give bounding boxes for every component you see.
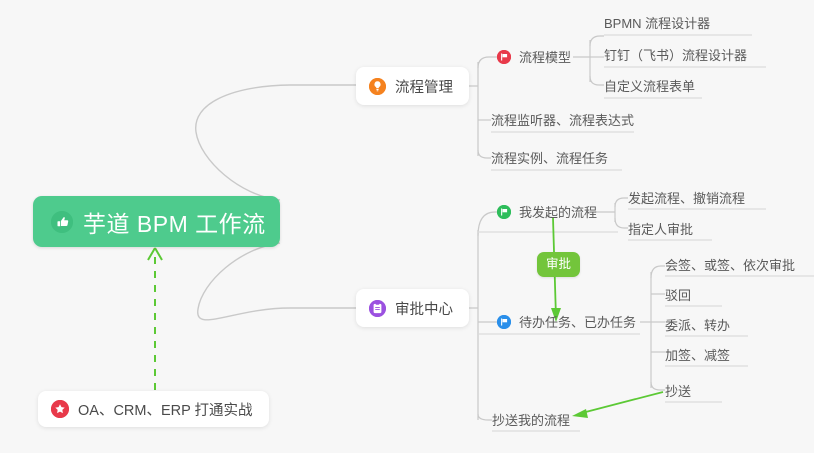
leaf-add-remove-sign[interactable]: 加签、减签 [665,343,730,367]
flag-blue-icon [497,315,511,329]
leaf-label-assigned-approver: 指定人审批 [628,223,693,236]
leaf-label-reject: 驳回 [665,289,691,302]
leaf-label-delegate-transfer: 委派、转办 [665,319,730,332]
leaf-bpmn-designer[interactable]: BPMN 流程设计器 [604,11,710,35]
leaf-label-cc-to-me: 抄送我的流程 [492,414,570,427]
clipboard-icon [369,300,386,317]
annotation-badge-approval: 审批 [537,252,580,277]
leaf-delegate-transfer[interactable]: 委派、转办 [665,313,730,337]
leaf-label-process-listener: 流程监听器、流程表达式 [491,114,634,127]
note-card-integration[interactable]: OA、CRM、ERP 打通实战 [38,391,269,427]
leaf-process-model[interactable]: 流程模型 [497,45,571,69]
root-label: 芋道 BPM 工作流 [83,205,266,239]
leaf-cc-to-me[interactable]: 抄送我的流程 [492,408,570,432]
leaf-label-cc: 抄送 [665,385,691,398]
note-card-label: OA、CRM、ERP 打通实战 [78,399,253,420]
branch-node-approval-center[interactable]: 审批中心 [356,289,469,327]
leaf-my-initiated-processes[interactable]: 我发起的流程 [497,200,597,224]
leaf-process-instance[interactable]: 流程实例、流程任务 [491,146,608,170]
lightbulb-icon [369,78,386,95]
leaf-label-custom-form: 自定义流程表单 [604,80,695,93]
leaf-countersign[interactable]: 会签、或签、依次审批 [665,253,795,277]
leaf-cc[interactable]: 抄送 [665,379,691,403]
leaf-todo-done-tasks[interactable]: 待办任务、已办任务 [497,310,636,334]
leaf-label-countersign: 会签、或签、依次审批 [665,259,795,272]
leaf-label-bpmn-designer: BPMN 流程设计器 [604,17,710,30]
leaf-reject[interactable]: 驳回 [665,283,691,307]
flag-red-icon [497,50,511,64]
leaf-label-my-initiated-processes: 我发起的流程 [519,206,597,219]
leaf-label-add-remove-sign: 加签、减签 [665,349,730,362]
star-icon [51,400,69,418]
branch-label-process-management: 流程管理 [395,76,453,97]
branch-node-process-management[interactable]: 流程管理 [356,67,469,105]
leaf-label-todo-done-tasks: 待办任务、已办任务 [519,316,636,329]
leaf-custom-form[interactable]: 自定义流程表单 [604,74,695,98]
leaf-dingtalk-designer[interactable]: 钉钉（飞书）流程设计器 [604,43,747,67]
leaf-start-cancel-process[interactable]: 发起流程、撤销流程 [628,186,745,210]
mindmap-canvas: 芋道 BPM 工作流 OA、CRM、ERP 打通实战 流程管理 [0,0,814,453]
leaf-label-process-instance: 流程实例、流程任务 [491,152,608,165]
leaf-label-start-cancel-process: 发起流程、撤销流程 [628,192,745,205]
root-node[interactable]: 芋道 BPM 工作流 [33,196,280,247]
leaf-assigned-approver[interactable]: 指定人审批 [628,217,693,241]
leaf-label-dingtalk-designer: 钉钉（飞书）流程设计器 [604,49,747,62]
flag-green-icon [497,205,511,219]
leaf-label-process-model: 流程模型 [519,51,571,64]
leaf-process-listener[interactable]: 流程监听器、流程表达式 [491,108,634,132]
branch-label-approval-center: 审批中心 [395,298,453,319]
thumbs-up-icon [51,211,73,233]
